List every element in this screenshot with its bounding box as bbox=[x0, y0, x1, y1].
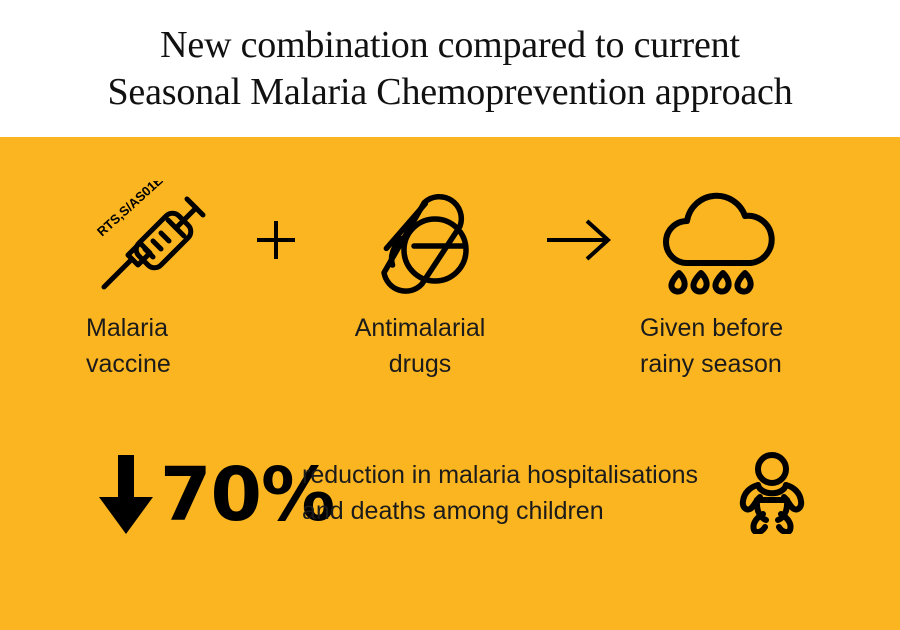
syringe-icon-label: RTS,S/AS01E bbox=[94, 181, 166, 239]
step-icon-container bbox=[305, 177, 535, 302]
stat-arrow-container bbox=[95, 455, 157, 542]
page-title-line-1: New combination compared to current bbox=[160, 22, 740, 69]
step-antimalarial-drugs: Antimalarial drugs bbox=[305, 177, 535, 382]
statistic-row: 70% reduction in malaria hospitalisation… bbox=[0, 447, 900, 567]
step-caption-line-1: Given before bbox=[640, 310, 870, 346]
rain-cloud-icon bbox=[654, 184, 779, 296]
baby-icon bbox=[736, 452, 808, 534]
arrow-down-icon bbox=[95, 455, 157, 537]
step-caption: Antimalarial drugs bbox=[305, 310, 535, 382]
stat-description: reduction in malaria hospitalisations an… bbox=[302, 457, 698, 529]
arrow-right-icon bbox=[545, 216, 615, 264]
plus-icon bbox=[252, 216, 300, 264]
step-caption-line-2: drugs bbox=[305, 346, 535, 382]
step-caption: Malaria vaccine bbox=[86, 310, 316, 382]
syringe-icon: RTS,S/AS01E bbox=[92, 181, 210, 299]
step-icon-container bbox=[640, 177, 870, 302]
pills-icon bbox=[361, 184, 479, 296]
infographic-root: New combination compared to current Seas… bbox=[0, 0, 900, 630]
step-caption-line-1: Antimalarial bbox=[305, 310, 535, 346]
content-panel: RTS,S/AS01E Malaria vaccine bbox=[0, 137, 900, 630]
step-caption: Given before rainy season bbox=[640, 310, 870, 382]
connector-plus bbox=[236, 177, 316, 302]
page-title-line-2: Seasonal Malaria Chemoprevention approac… bbox=[107, 69, 792, 116]
step-caption-line-1: Malaria bbox=[86, 310, 316, 346]
stat-figure-container bbox=[736, 452, 808, 539]
stat-description-line-1: reduction in malaria hospitalisations bbox=[302, 457, 698, 493]
header-banner: New combination compared to current Seas… bbox=[0, 0, 900, 137]
step-caption-line-2: rainy season bbox=[640, 346, 870, 382]
step-caption-line-2: vaccine bbox=[86, 346, 316, 382]
step-rainy-season: Given before rainy season bbox=[640, 177, 870, 382]
stat-description-line-2: and deaths among children bbox=[302, 493, 698, 529]
connector-arrow bbox=[532, 177, 627, 302]
steps-row: RTS,S/AS01E Malaria vaccine bbox=[0, 177, 900, 427]
